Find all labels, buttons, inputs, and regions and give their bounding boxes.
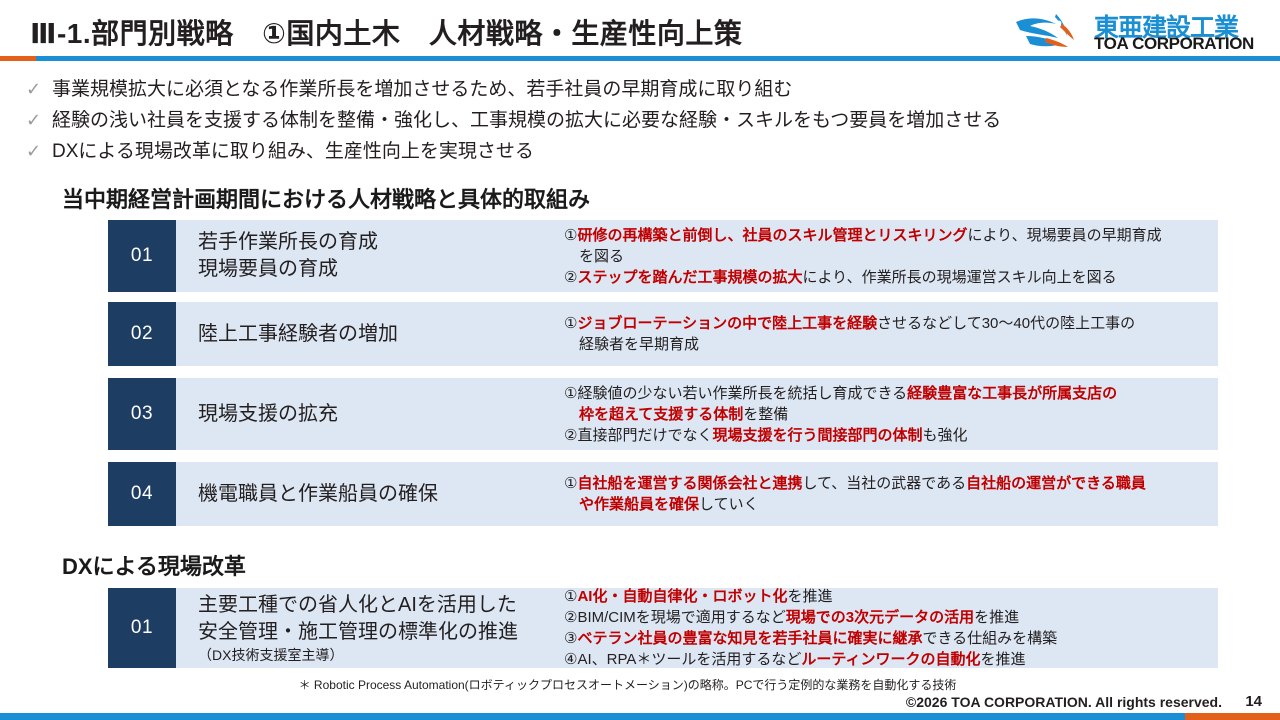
detail-text: ①: [564, 315, 577, 332]
detail-line: ②BIM/CIMを現場で適用するなど現場での3次元データの活用を推進: [564, 607, 1210, 628]
detail-text: ①経験値の少ない若い作業所長を統括し育成できる: [564, 385, 907, 402]
detail-highlight: ルーティンワークの自動化: [801, 651, 980, 668]
row-detail-cell: ①研修の再構築と前倒し、社員のスキル管理とリスキリングにより、現場要員の早期育成…: [564, 220, 1218, 292]
detail-text: ③: [564, 630, 577, 647]
row-title-cell: 主要工種での省人化とAIを活用した 安全管理・施工管理の標準化の推進 （DX技術…: [176, 588, 564, 668]
detail-text: して、当社の武器である: [802, 475, 966, 492]
section-heading-hr-strategy: 当中期経営計画期間における人材戦略と具体的取組み: [62, 182, 590, 214]
row-detail-cell: ①ジョブローテーションの中で陸上工事を経験させるなどして30〜40代の陸上工事の…: [564, 302, 1218, 366]
table-row: 04 機電職員と作業船員の確保 ①自社船を運営する関係会社と連携して、当社の武器…: [108, 462, 1218, 526]
detail-highlight: AI化・自動自律化・ロボット化: [577, 588, 787, 605]
toa-bird-logo-icon: [1012, 8, 1090, 52]
row-title-line: 若手作業所長の育成: [198, 229, 564, 256]
list-item: ✓ DXによる現場改革に取り組み、生産性向上を実現させる: [26, 136, 1246, 167]
row-title-cell: 現場支援の拡充: [176, 378, 564, 450]
row-title-line: 現場支援の拡充: [198, 401, 564, 428]
company-logo: 東亜建設工業 TOA CORPORATION: [1012, 6, 1262, 54]
lead-item-text: DXによる現場改革に取り組み、生産性向上を実現させる: [52, 136, 534, 167]
detail-text: を推進: [974, 609, 1019, 626]
check-icon: ✓: [26, 74, 52, 105]
detail-text: させるなどして30〜40代の陸上工事の: [877, 315, 1135, 332]
detail-highlight: や作業船員を確保: [579, 496, 699, 513]
detail-text: も強化: [922, 427, 967, 444]
detail-highlight: 経験豊富な工事長が所属支店の: [907, 385, 1117, 402]
section-heading-dx: DXによる現場改革: [62, 549, 246, 581]
detail-highlight: 自社船を運営する関係会社と連携: [577, 475, 802, 492]
table-row: 01 若手作業所長の育成 現場要員の育成 ①研修の再構築と前倒し、社員のスキル管…: [108, 220, 1218, 292]
detail-line: ①経験値の少ない若い作業所長を統括し育成できる経験豊富な工事長が所属支店の: [564, 383, 1210, 404]
detail-line: や作業船員を確保していく: [564, 494, 1210, 515]
row-title-cell: 機電職員と作業船員の確保: [176, 462, 564, 526]
check-icon: ✓: [26, 136, 52, 167]
detail-highlight: ステップを踏んだ工事規模の拡大: [577, 269, 802, 286]
list-item: ✓ 経験の浅い社員を支援する体制を整備・強化し、工事規模の拡大に必要な経験・スキ…: [26, 105, 1246, 136]
row-number-badge: 04: [108, 462, 176, 526]
detail-text: ①: [564, 475, 577, 492]
detail-highlight: ベテラン社員の豊富な知見を若手社員に確実に継承: [577, 630, 922, 647]
footer-divider-blue: [0, 713, 1185, 720]
footer-divider: [0, 713, 1280, 720]
detail-text: を整備: [743, 406, 788, 423]
detail-text: [564, 496, 579, 513]
footnote: ＊ Robotic Process Automation(ロボティックプロセスオ…: [0, 676, 1255, 693]
row-title-line: 主要工種での省人化とAIを活用した: [198, 592, 564, 619]
detail-text: ④AI、RPA＊ツールを活用するなど: [564, 651, 801, 668]
detail-text: ②直接部門だけでなく: [564, 427, 712, 444]
lead-bullet-list: ✓ 事業規模拡大に必須となる作業所長を増加させるため、若手社員の早期育成に取り組…: [26, 74, 1246, 167]
detail-text: 経験者を早期育成: [564, 336, 699, 353]
detail-line: ④AI、RPA＊ツールを活用するなどルーティンワークの自動化を推進: [564, 649, 1210, 670]
row-title-cell: 若手作業所長の育成 現場要員の育成: [176, 220, 564, 292]
logo-text-en: TOA CORPORATION: [1094, 34, 1254, 54]
row-number-badge: 01: [108, 220, 176, 292]
table-row: 03 現場支援の拡充 ①経験値の少ない若い作業所長を統括し育成できる経験豊富な工…: [108, 378, 1218, 450]
detail-line: ②ステップを踏んだ工事規模の拡大により、作業所長の現場運営スキル向上を図る: [564, 267, 1210, 288]
lead-item-text: 経験の浅い社員を支援する体制を整備・強化し、工事規模の拡大に必要な経験・スキルを…: [52, 105, 1001, 136]
detail-highlight: ジョブローテーションの中で陸上工事を経験: [577, 315, 877, 332]
row-detail-cell: ①AI化・自動自律化・ロボット化を推進②BIM/CIMを現場で適用するなど現場で…: [564, 588, 1218, 668]
copyright-text: ©2026 TOA CORPORATION. All rights reserv…: [906, 694, 1222, 710]
detail-line: 枠を超えて支援する体制を整備: [564, 404, 1210, 425]
table-row: 02 陸上工事経験者の増加 ①ジョブローテーションの中で陸上工事を経験させるなど…: [108, 302, 1218, 366]
footer-divider-orange: [1185, 713, 1280, 720]
detail-highlight: 現場支援を行う間接部門の体制: [712, 427, 922, 444]
row-title-line: 陸上工事経験者の増加: [198, 321, 564, 348]
detail-line: ①研修の再構築と前倒し、社員のスキル管理とリスキリングにより、現場要員の早期育成: [564, 225, 1210, 246]
row-title-subtext: （DX技術支援室主導）: [198, 646, 564, 664]
table-row: 01 主要工種での省人化とAIを活用した 安全管理・施工管理の標準化の推進 （D…: [108, 588, 1218, 668]
detail-highlight: 研修の再構築と前倒し、社員のスキル管理とリスキリング: [577, 227, 967, 244]
detail-highlight: 枠を超えて支援する体制: [579, 406, 743, 423]
detail-line: ①ジョブローテーションの中で陸上工事を経験させるなどして30〜40代の陸上工事の: [564, 313, 1210, 334]
row-title-line: 安全管理・施工管理の標準化の推進: [198, 619, 564, 646]
detail-text: により、作業所長の現場運営スキル向上を図る: [802, 269, 1116, 286]
detail-line: ①AI化・自動自律化・ロボット化を推進: [564, 586, 1210, 607]
detail-line: ①自社船を運営する関係会社と連携して、当社の武器である自社船の運営ができる職員: [564, 473, 1210, 494]
row-title-line: 現場要員の育成: [198, 256, 564, 283]
detail-text: できる仕組みを構築: [922, 630, 1057, 647]
check-icon: ✓: [26, 105, 52, 136]
detail-text: を推進: [980, 651, 1025, 668]
detail-text: [564, 406, 579, 423]
header-divider: [0, 56, 1280, 61]
page-number: 14: [1245, 693, 1262, 710]
detail-text: ①: [564, 588, 577, 605]
detail-line: ③ベテラン社員の豊富な知見を若手社員に確実に継承できる仕組みを構築: [564, 628, 1210, 649]
detail-text: していく: [699, 496, 759, 513]
detail-text: により、現場要員の早期育成: [967, 227, 1161, 244]
row-detail-cell: ①自社船を運営する関係会社と連携して、当社の武器である自社船の運営ができる職員 …: [564, 462, 1218, 526]
detail-text: を図る: [564, 248, 624, 265]
detail-line: 経験者を早期育成: [564, 334, 1210, 355]
detail-line: を図る: [564, 246, 1210, 267]
detail-text: ②: [564, 269, 577, 286]
detail-text: ①: [564, 227, 577, 244]
row-detail-cell: ①経験値の少ない若い作業所長を統括し育成できる経験豊富な工事長が所属支店の 枠を…: [564, 378, 1218, 450]
row-number-badge: 02: [108, 302, 176, 366]
detail-highlight: 自社船の運営ができる職員: [966, 475, 1146, 492]
header-divider-blue: [36, 56, 1280, 61]
page-title: Ⅲ-1.部門別戦略 ①国内土木 人材戦略・生産性向上策: [30, 12, 742, 52]
row-number-badge: 03: [108, 378, 176, 450]
row-number-badge: 01: [108, 588, 176, 668]
detail-text: を推進: [787, 588, 832, 605]
lead-item-text: 事業規模拡大に必須となる作業所長を増加させるため、若手社員の早期育成に取り組む: [52, 74, 792, 105]
detail-text: ②BIM/CIMを現場で適用するなど: [564, 609, 786, 626]
row-title-line: 機電職員と作業船員の確保: [198, 481, 564, 508]
list-item: ✓ 事業規模拡大に必須となる作業所長を増加させるため、若手社員の早期育成に取り組…: [26, 74, 1246, 105]
header-divider-orange: [0, 56, 36, 61]
detail-highlight: 現場での3次元データの活用: [786, 609, 974, 626]
detail-line: ②直接部門だけでなく現場支援を行う間接部門の体制も強化: [564, 425, 1210, 446]
row-title-cell: 陸上工事経験者の増加: [176, 302, 564, 366]
